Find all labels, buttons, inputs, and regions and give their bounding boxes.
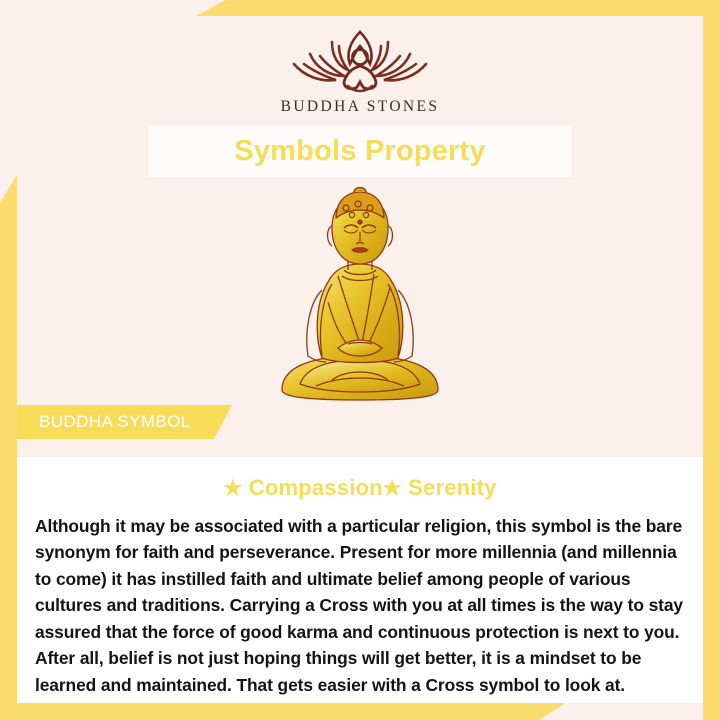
virtues-line: ★ Compassion★ Serenity [27,475,693,501]
inner-panel: BUDDHA STONES Symbols Property [17,16,703,703]
star-icon-1: ★ [223,477,242,500]
promo-card: BUDDHA STONES Symbols Property [0,0,720,720]
virtue-second: Serenity [408,475,496,500]
decor-right-band [703,0,720,720]
title-banner: Symbols Property [148,126,572,177]
virtue-first: Compassion [249,475,383,500]
decor-top-band [196,0,720,16]
decor-bottom-band [0,703,565,720]
description-section: ★ Compassion★ Serenity Although it may b… [17,457,703,703]
symbol-tag-label: BUDDHA SYMBOL [17,412,191,432]
lotus-meditation-icon [284,24,436,96]
decor-left-band [0,175,17,720]
golden-seated-buddha-illustration [270,184,450,406]
brand-block: BUDDHA STONES [17,24,703,116]
star-icon-2: ★ [383,477,402,500]
symbol-tag: BUDDHA SYMBOL [17,405,232,439]
hero-image-area [17,184,703,406]
brand-name: BUDDHA STONES [17,98,703,116]
page-title: Symbols Property [234,135,485,168]
description-paragraph: Although it may be associated with a par… [27,513,693,698]
